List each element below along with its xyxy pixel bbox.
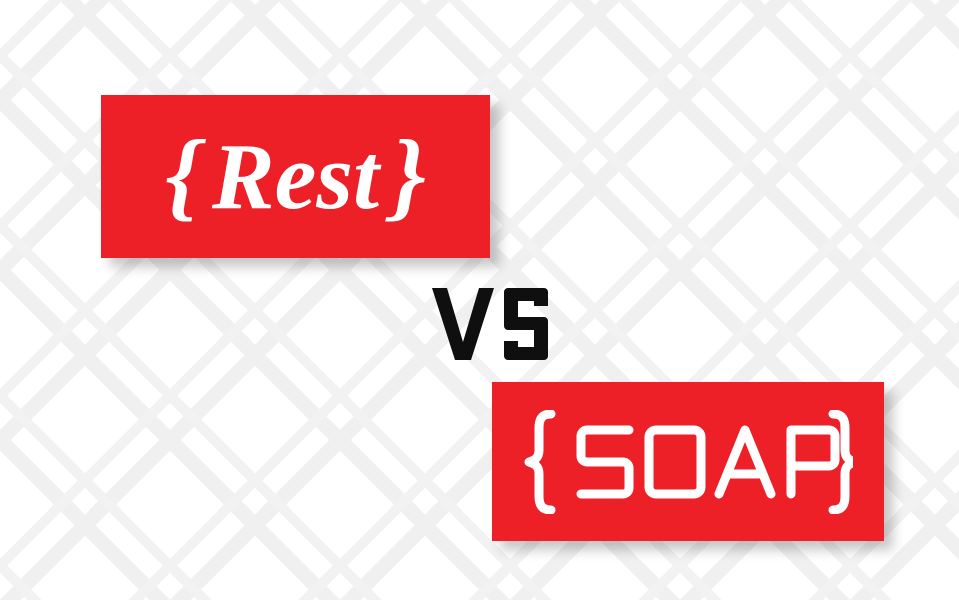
rest-label: Rest [204,125,387,229]
soap-letter-p-glyph [791,430,835,494]
poster-canvas: {Rest} [0,0,959,600]
rest-wordmark: {Rest} [161,125,430,225]
versus-label [430,286,550,362]
vs-letter-v-glyph [432,288,494,360]
soap-letter-s-glyph [581,430,629,494]
soap-letter-a-glyph [719,430,771,494]
rest-open-brace-icon: { [161,119,204,230]
soap-wordmark: SOAP VS [523,410,853,514]
soap-open-brace-icon [529,414,551,510]
soap-badge: SOAP VS [492,382,884,541]
rest-badge: {Rest} [101,95,490,258]
rest-close-brace-icon: } [387,119,430,230]
soap-letter-o-glyph [649,430,701,494]
vs-letter-s-glyph [504,288,548,360]
